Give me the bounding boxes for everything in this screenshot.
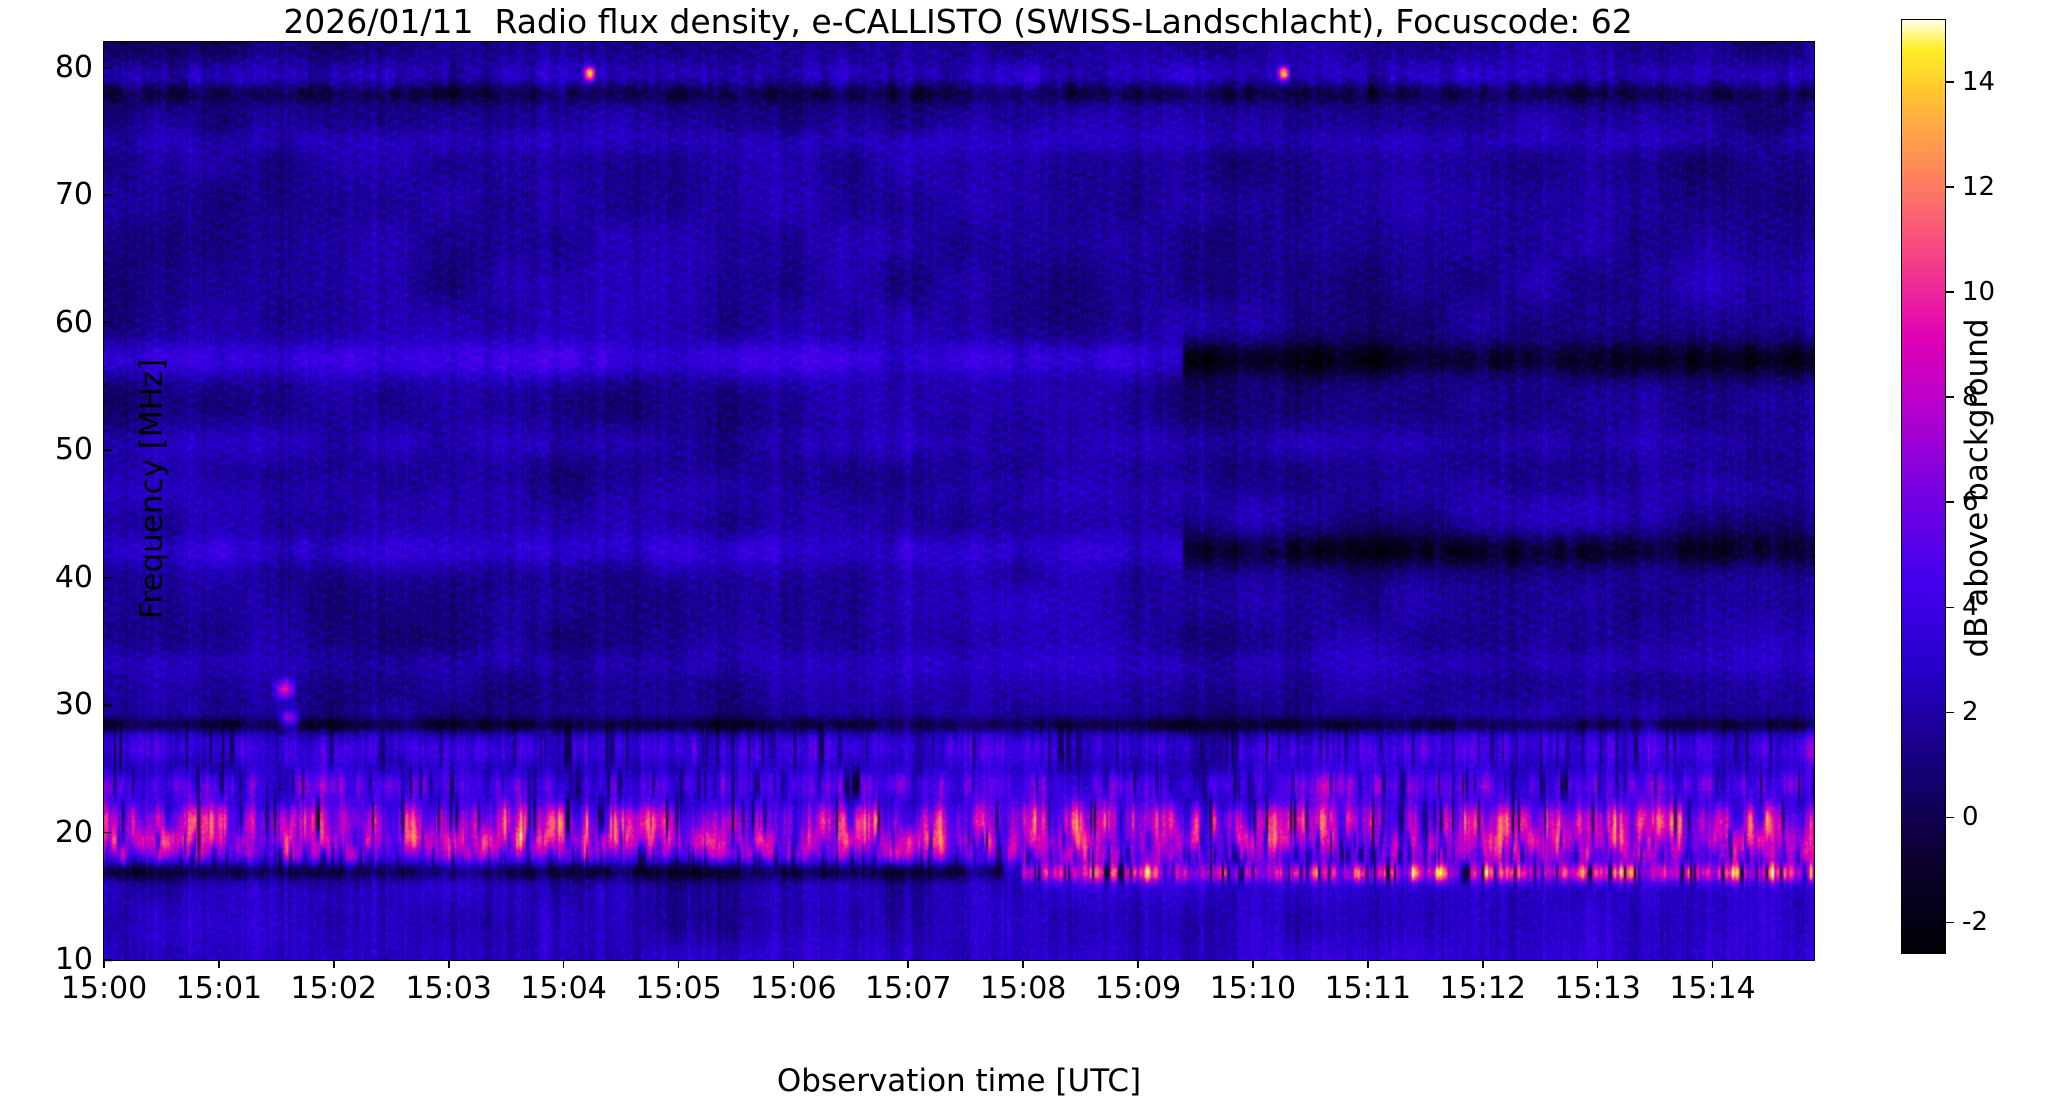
x-tick: 15:07 [865, 960, 951, 1006]
spectrogram-axes[interactable]: Frequency [MHz] 8070605040302010 Observa… [103, 41, 1815, 961]
x-tick: 15:01 [176, 960, 262, 1006]
colorbar-gradient [1901, 19, 1946, 954]
spectrogram-image [104, 42, 1814, 960]
x-tick-label: 15:04 [520, 972, 606, 1006]
x-tick-mark [103, 960, 105, 968]
x-tick: 15:10 [1210, 960, 1296, 1006]
y-tick: 50 [55, 435, 104, 465]
y-tick-mark [104, 194, 112, 196]
y-tick: 30 [55, 690, 104, 720]
y-tick-mark [104, 322, 112, 324]
x-tick-label: 15:05 [635, 972, 721, 1006]
x-tick-label: 15:11 [1325, 972, 1411, 1006]
colorbar-tick-mark [1946, 81, 1954, 83]
x-tick: 15:09 [1095, 960, 1181, 1006]
colorbar-tick-mark [1946, 186, 1954, 188]
x-tick: 15:11 [1325, 960, 1411, 1006]
x-tick: 15:13 [1554, 960, 1640, 1006]
colorbar-tick: 14 [1946, 69, 1995, 95]
y-tick: 80 [55, 53, 104, 83]
x-tick-mark [218, 960, 220, 968]
x-tick-mark [1597, 960, 1599, 968]
colorbar-tick: -2 [1946, 909, 1988, 935]
y-tick-label: 50 [55, 435, 104, 465]
x-tick-mark [1482, 960, 1484, 968]
colorbar-tick-mark [1946, 712, 1954, 714]
colorbar-tick-mark [1946, 817, 1954, 819]
x-tick-label: 15:13 [1554, 972, 1640, 1006]
colorbar-tick-label: -2 [1954, 909, 1988, 935]
colorbar-tick-mark [1946, 922, 1954, 924]
y-axis-label: Frequency [MHz] [134, 109, 170, 869]
y-tick-mark [104, 704, 112, 706]
spectrogram-figure: 2026/01/11 Radio flux density, e-CALLIST… [0, 0, 2047, 1067]
x-axis-label: Observation time [UTC] [104, 1063, 1814, 1099]
x-tick-label: 15:01 [176, 972, 262, 1006]
x-tick-label: 15:08 [980, 972, 1066, 1006]
y-tick-label: 30 [55, 690, 104, 720]
colorbar-image [1902, 20, 1945, 953]
colorbar-tick-mark [1946, 607, 1954, 609]
y-tick-label: 20 [55, 818, 104, 848]
colorbar-tick-mark [1946, 291, 1954, 293]
x-tick-label: 15:00 [61, 972, 147, 1006]
x-tick-mark [1137, 960, 1139, 968]
page-title: 2026/01/11 Radio flux density, e-CALLIST… [103, 4, 1813, 40]
y-tick-label: 60 [55, 308, 104, 338]
x-tick-mark [333, 960, 335, 968]
y-tick-label: 40 [55, 563, 104, 593]
x-tick-label: 15:12 [1439, 972, 1525, 1006]
y-tick-mark [104, 832, 112, 834]
x-tick-mark [678, 960, 680, 968]
x-tick-mark [1252, 960, 1254, 968]
colorbar-tick-mark [1946, 501, 1954, 503]
x-tick: 15:06 [750, 960, 836, 1006]
colorbar-tick-label: 14 [1954, 69, 1995, 95]
x-tick-mark [1712, 960, 1714, 968]
y-tick-mark [104, 67, 112, 69]
y-tick: 60 [55, 308, 104, 338]
x-tick: 15:08 [980, 960, 1066, 1006]
x-tick: 15:00 [61, 960, 147, 1006]
x-tick: 15:05 [635, 960, 721, 1006]
x-tick-mark [448, 960, 450, 968]
y-tick-mark [104, 449, 112, 451]
y-tick-label: 80 [55, 53, 104, 83]
y-tick-label: 70 [55, 180, 104, 210]
colorbar-label: dB above background [1959, 138, 1995, 838]
x-tick-label: 15:07 [865, 972, 951, 1006]
colorbar[interactable]: 14121086420-2 [1901, 19, 1949, 957]
x-tick-label: 15:14 [1669, 972, 1755, 1006]
y-tick: 40 [55, 563, 104, 593]
x-tick: 15:14 [1669, 960, 1755, 1006]
x-tick: 15:03 [405, 960, 491, 1006]
y-tick: 20 [55, 818, 104, 848]
x-tick-label: 15:06 [750, 972, 836, 1006]
x-tick-label: 15:09 [1095, 972, 1181, 1006]
x-tick-mark [907, 960, 909, 968]
y-tick: 70 [55, 180, 104, 210]
x-tick-mark [1367, 960, 1369, 968]
x-tick-label: 15:10 [1210, 972, 1296, 1006]
x-tick-label: 15:02 [291, 972, 377, 1006]
y-tick-mark [104, 577, 112, 579]
x-tick: 15:04 [520, 960, 606, 1006]
colorbar-tick-mark [1946, 396, 1954, 398]
x-tick: 15:12 [1439, 960, 1525, 1006]
x-tick-mark [793, 960, 795, 968]
x-tick: 15:02 [291, 960, 377, 1006]
x-tick-label: 15:03 [405, 972, 491, 1006]
x-tick-mark [1022, 960, 1024, 968]
x-tick-mark [563, 960, 565, 968]
